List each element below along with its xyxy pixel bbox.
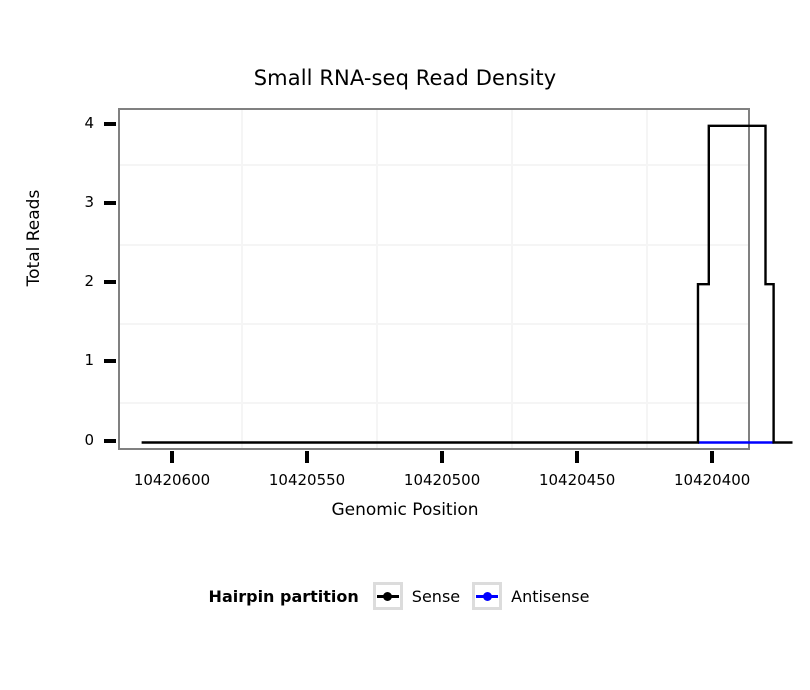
x-tick-label: 10420450 [512, 471, 642, 489]
x-tick-mark [170, 451, 174, 463]
legend-key-dot [383, 592, 392, 601]
x-axis-title: Genomic Position [0, 500, 810, 520]
y-tick-label: 4 [54, 114, 94, 132]
x-tick-mark [710, 451, 714, 463]
legend-key-dot [483, 592, 492, 601]
y-tick-mark [104, 280, 116, 284]
chart-legend: Hairpin partition Sense Antisense [0, 582, 810, 610]
x-tick-label: 10420600 [107, 471, 237, 489]
plot-panel [118, 108, 750, 450]
x-tick-mark [575, 451, 579, 463]
y-axis-title: Total Reads [24, 178, 44, 298]
y-tick-mark [104, 359, 116, 363]
y-tick-label: 0 [54, 431, 94, 449]
x-tick-mark [440, 451, 444, 463]
legend-label-antisense: Antisense [511, 587, 589, 606]
legend-key-sense-icon [373, 582, 403, 610]
series-line-sense [142, 126, 793, 443]
chart-title: Small RNA-seq Read Density [0, 66, 810, 90]
x-tick-label: 10420550 [242, 471, 372, 489]
x-tick-label: 10420500 [377, 471, 507, 489]
legend-label-sense: Sense [412, 587, 460, 606]
legend-entry-sense[interactable]: Sense [373, 582, 460, 610]
y-tick-label: 1 [54, 351, 94, 369]
y-tick-label: 2 [54, 272, 94, 290]
y-tick-mark [104, 122, 116, 126]
legend-entry-antisense[interactable]: Antisense [472, 582, 589, 610]
legend-key-antisense-icon [472, 582, 502, 610]
y-tick-mark [104, 201, 116, 205]
legend-title: Hairpin partition [209, 587, 359, 606]
y-tick-label: 3 [54, 193, 94, 211]
chart-figure: Small RNA-seq Read Density Total Reads 0… [0, 0, 810, 690]
plot-area [120, 110, 748, 448]
series-layer [120, 110, 752, 452]
x-tick-label: 10420400 [647, 471, 777, 489]
y-tick-mark [104, 439, 116, 443]
x-tick-mark [305, 451, 309, 463]
